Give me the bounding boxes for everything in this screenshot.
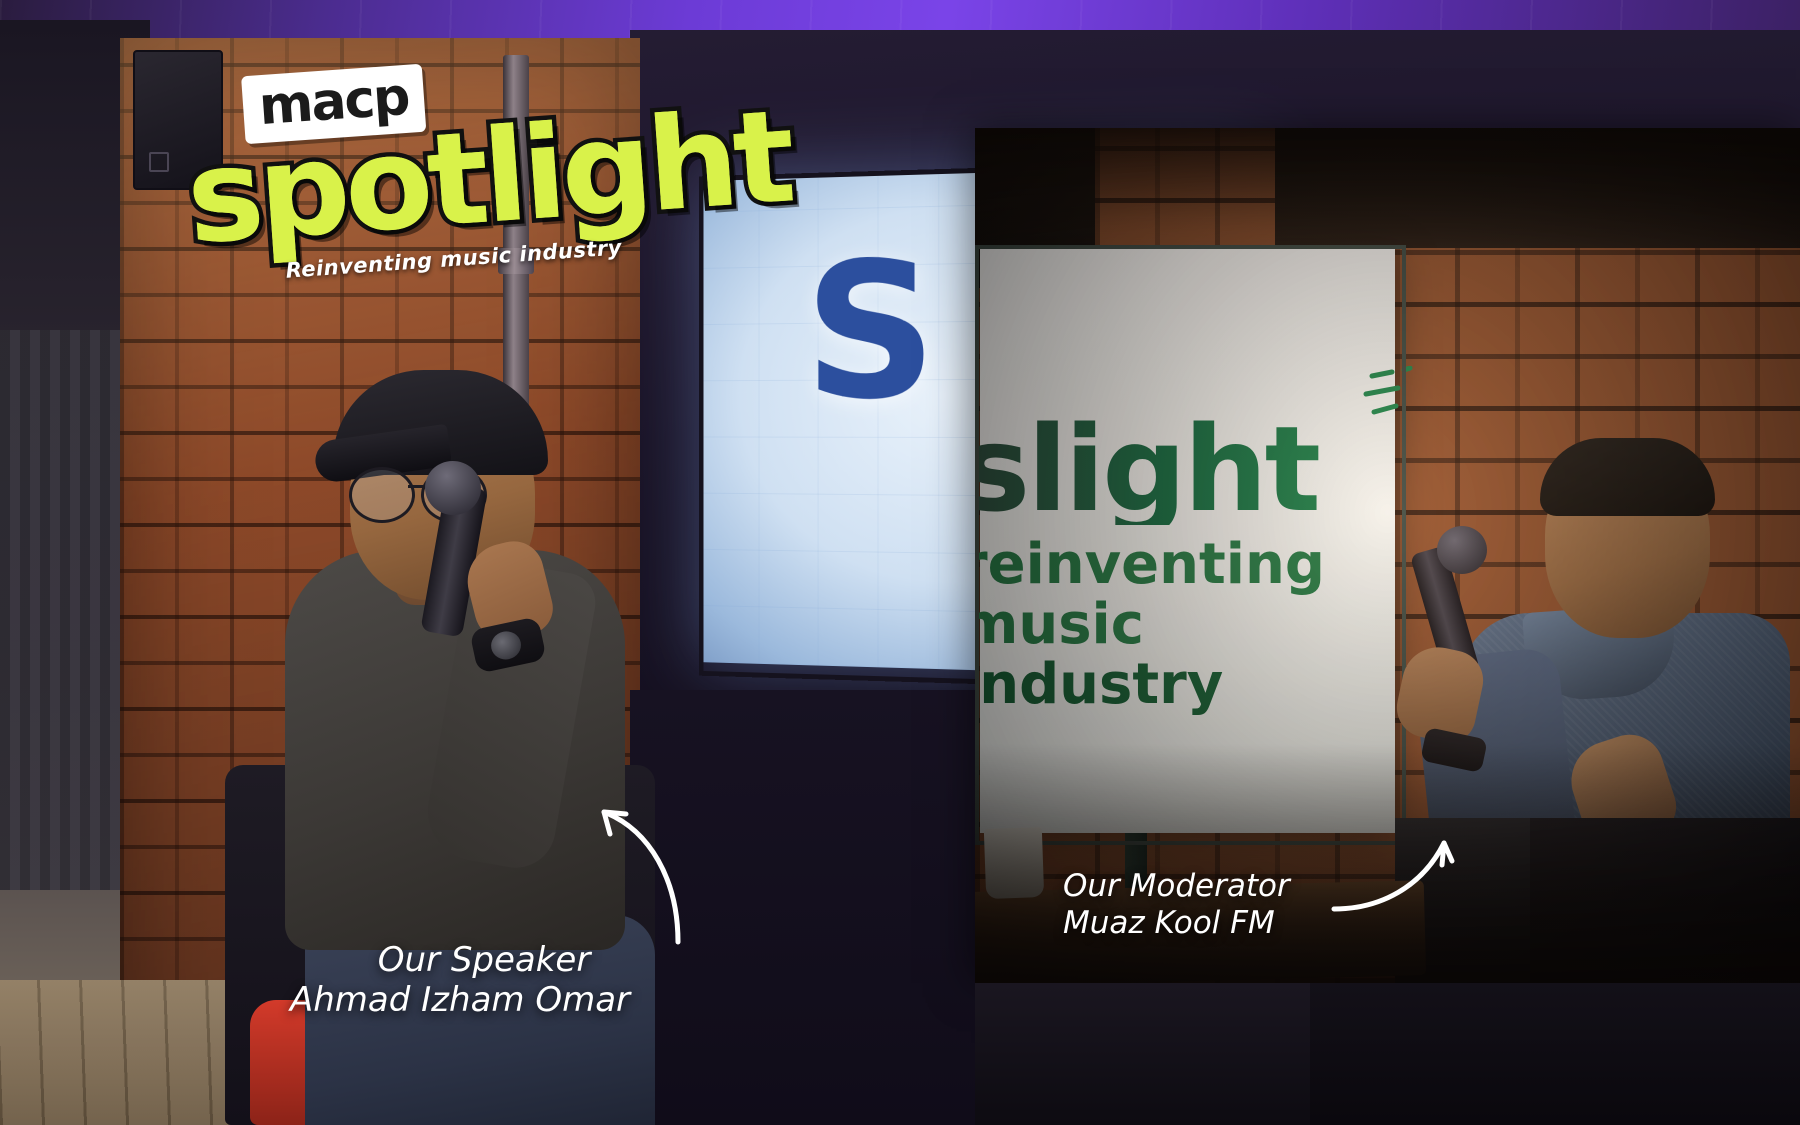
speaker-glasses-bridge [408,485,424,488]
photo-collage: S mac [0,0,1800,1125]
speaker-caption: Our Speaker Ahmad Izham Omar [290,940,630,1020]
moderator-caption-line2: Muaz Kool FM [1063,905,1275,941]
bottom-right-dark-block [1310,983,1800,1125]
moderator-caption-arrow [1330,835,1480,925]
speaker-caption-arrow [560,800,690,950]
moderator-caption-line1: Our Moderator [1063,868,1290,905]
speaker-caption-line1: Our Speaker [338,940,630,980]
macp-spotlight-logo: macp spotlight spotlight Reinventing mus… [179,44,721,266]
moderator-caption: Our Moderator Muaz Kool FM [1063,868,1290,941]
curtain [0,330,120,890]
bottom-center-dark-block [975,983,1310,1125]
speaker-caption-line2: Ahmad Izham Omar [290,980,630,1020]
speaker-glasses-left [349,467,415,523]
